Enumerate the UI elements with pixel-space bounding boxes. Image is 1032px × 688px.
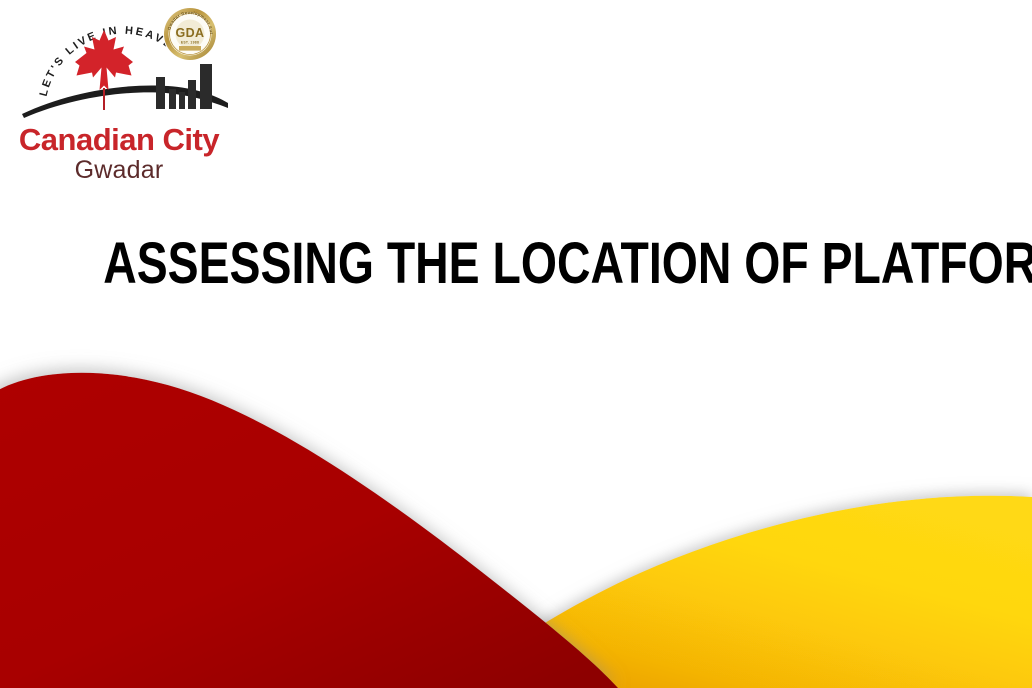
gda-badge-est: EST. 1988 <box>181 41 199 45</box>
red-wave-shape <box>0 373 618 688</box>
presentation-slide: LET'S LIVE IN HEAVEN <box>0 0 1032 688</box>
logo: LET'S LIVE IN HEAVEN <box>8 4 244 194</box>
gda-badge-initials: GDA <box>176 26 205 40</box>
skyline-icon <box>156 64 212 109</box>
horizon-curve <box>22 85 228 118</box>
gda-badge-icon: Gwadar Development Authority GDA EST. 19… <box>161 4 217 61</box>
logo-title: Canadian City <box>8 122 230 158</box>
logo-emblem: LET'S LIVE IN HEAVEN <box>8 4 244 129</box>
slide-headline: ASSESSING THE LOCATION OF PLATFORM <box>103 232 929 296</box>
logo-subtitle: Gwadar <box>8 156 230 185</box>
